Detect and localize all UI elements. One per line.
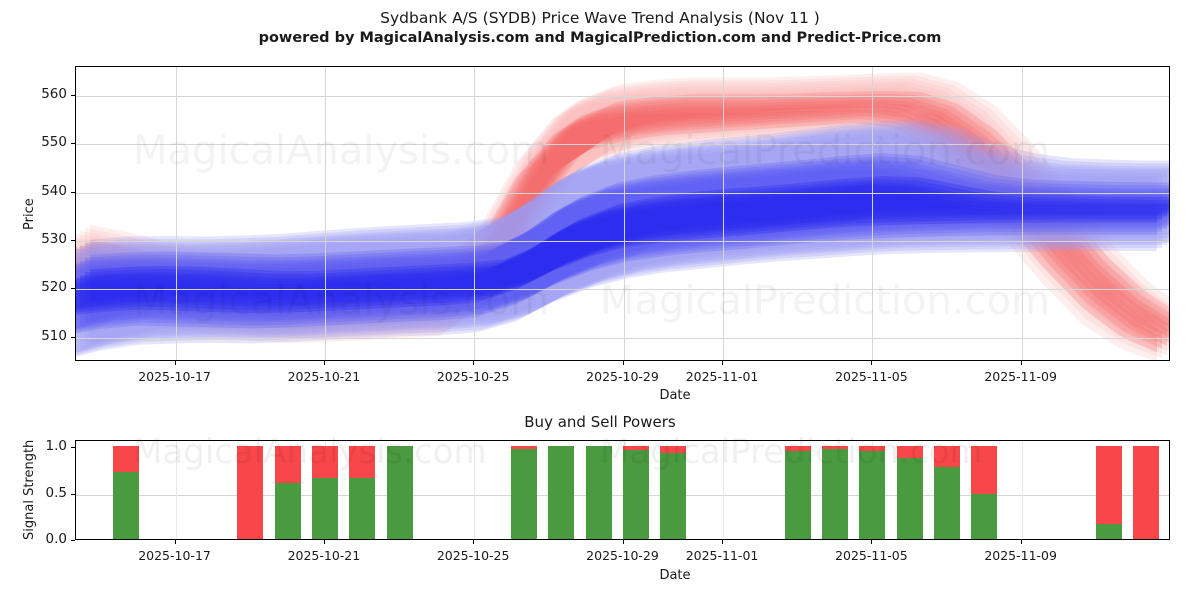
gridline-vertical: [723, 67, 724, 360]
signal-bar[interactable]: [623, 440, 649, 539]
bottom-ytick-label: 0.0: [5, 531, 67, 547]
sell-power-segment: [971, 446, 997, 493]
buy-power-segment: [971, 494, 997, 539]
bottom-ytick-mark: [71, 447, 75, 448]
sell-power-segment: [1133, 446, 1159, 539]
signal-bar[interactable]: [660, 440, 686, 539]
top-xtick-mark: [623, 361, 624, 365]
gridline-vertical: [1022, 441, 1023, 539]
gridline-vertical: [723, 441, 724, 539]
buy-sell-powers-plot: [75, 440, 1170, 540]
gridline-horizontal: [76, 144, 1169, 145]
gridline-horizontal: [76, 96, 1169, 97]
bottom-xtick-mark: [324, 540, 325, 544]
gridline-horizontal: [76, 193, 1169, 194]
title-block: Sydbank A/S (SYDB) Price Wave Trend Anal…: [0, 8, 1200, 48]
sell-power-segment: [113, 446, 139, 472]
signal-bar[interactable]: [586, 440, 612, 539]
top-xtick-mark: [175, 361, 176, 365]
buy-power-segment: [660, 453, 686, 539]
signal-bar[interactable]: [897, 440, 923, 539]
buy-power-segment: [859, 451, 885, 539]
buy-power-segment: [548, 446, 574, 539]
top-ytick-label: 530: [5, 231, 67, 247]
signal-bar[interactable]: [971, 440, 997, 539]
bottom-xtick-label: 2025-10-21: [269, 548, 379, 563]
bottom-ytick-label: 0.5: [5, 485, 67, 501]
bottom-xtick-label: 2025-11-01: [667, 548, 777, 563]
buy-power-segment: [511, 449, 537, 539]
top-ytick-label: 540: [5, 183, 67, 199]
gridline-vertical: [325, 67, 326, 360]
top-xtick-label: 2025-11-05: [816, 369, 926, 384]
top-xtick-label: 2025-10-29: [568, 369, 678, 384]
buy-power-segment: [113, 472, 139, 539]
chart-page: Sydbank A/S (SYDB) Price Wave Trend Anal…: [0, 0, 1200, 600]
buy-power-segment: [1096, 524, 1122, 539]
gridline-vertical: [1022, 67, 1023, 360]
signal-bar[interactable]: [237, 440, 263, 539]
gridline-vertical: [872, 67, 873, 360]
bottom-xtick-label: 2025-10-29: [568, 548, 678, 563]
top-xtick-label: 2025-10-17: [120, 369, 230, 384]
signal-bar[interactable]: [785, 440, 811, 539]
price-wave-plot: [75, 66, 1170, 361]
gridline-horizontal: [76, 241, 1169, 242]
bottom-xtick-mark: [1021, 540, 1022, 544]
signal-bar[interactable]: [822, 440, 848, 539]
page-subtitle: powered by MagicalAnalysis.com and Magic…: [0, 28, 1200, 48]
signal-bar[interactable]: [511, 440, 537, 539]
top-xtick-mark: [871, 361, 872, 365]
bottom-xtick-mark: [722, 540, 723, 544]
bottom-xtick-label: 2025-11-05: [816, 548, 926, 563]
gridline-vertical: [176, 441, 177, 539]
page-title: Sydbank A/S (SYDB) Price Wave Trend Anal…: [0, 8, 1200, 28]
top-ytick-label: 520: [5, 279, 67, 295]
gridline-vertical: [474, 67, 475, 360]
buy-power-segment: [349, 478, 375, 539]
bottom-ytick-label: 1.0: [5, 438, 67, 454]
signal-bar[interactable]: [275, 440, 301, 539]
bottom-xtick-mark: [473, 540, 474, 544]
bottom-xtick-label: 2025-10-17: [120, 548, 230, 563]
signal-bar[interactable]: [548, 440, 574, 539]
signal-bar[interactable]: [387, 440, 413, 539]
signal-bar[interactable]: [1096, 440, 1122, 539]
buy-power-segment: [897, 458, 923, 539]
bottom-xtick-label: 2025-10-25: [418, 548, 528, 563]
signal-bar[interactable]: [1133, 440, 1159, 539]
gridline-vertical: [624, 67, 625, 360]
top-ytick-label: 510: [5, 328, 67, 344]
sell-power-segment: [934, 446, 960, 466]
top-ytick-mark: [71, 192, 75, 193]
top-ytick-mark: [71, 288, 75, 289]
buy-power-segment: [785, 451, 811, 539]
signal-bar[interactable]: [349, 440, 375, 539]
gridline-vertical: [176, 67, 177, 360]
bottom-xtick-mark: [175, 540, 176, 544]
buy-power-segment: [586, 446, 612, 539]
top-ytick-mark: [71, 337, 75, 338]
sell-power-segment: [1096, 446, 1122, 524]
top-xtick-mark: [722, 361, 723, 365]
sell-power-segment: [349, 446, 375, 477]
top-xtick-mark: [324, 361, 325, 365]
gridline-horizontal: [76, 289, 1169, 290]
sell-power-segment: [275, 446, 301, 482]
top-xaxis-title: Date: [575, 388, 775, 403]
buy-power-segment: [312, 478, 338, 539]
gridline-horizontal: [76, 338, 1169, 339]
top-ytick-label: 560: [5, 86, 67, 102]
top-xtick-label: 2025-10-25: [418, 369, 528, 384]
top-xtick-label: 2025-11-01: [667, 369, 777, 384]
top-xtick-mark: [1021, 361, 1022, 365]
signal-bar[interactable]: [859, 440, 885, 539]
top-ytick-label: 550: [5, 134, 67, 150]
top-xtick-label: 2025-10-21: [269, 369, 379, 384]
sell-power-segment: [897, 446, 923, 457]
buy-power-segment: [387, 446, 413, 539]
buy-power-segment: [822, 449, 848, 539]
top-xtick-mark: [473, 361, 474, 365]
bottom-ytick-mark: [71, 494, 75, 495]
buy-sell-powers-title: Buy and Sell Powers: [0, 413, 1200, 431]
top-ytick-mark: [71, 240, 75, 241]
signal-bar[interactable]: [113, 440, 139, 539]
sell-power-segment: [237, 446, 263, 539]
sell-power-segment: [312, 446, 338, 477]
buy-power-segment: [623, 450, 649, 539]
signal-bar[interactable]: [934, 440, 960, 539]
top-yaxis-title: Price: [22, 198, 37, 230]
top-ytick-mark: [71, 95, 75, 96]
buy-power-segment: [934, 467, 960, 539]
bottom-xtick-label: 2025-11-09: [966, 548, 1076, 563]
signal-bar[interactable]: [312, 440, 338, 539]
top-xtick-label: 2025-11-09: [966, 369, 1076, 384]
bottom-xtick-mark: [871, 540, 872, 544]
bottom-xtick-mark: [623, 540, 624, 544]
bottom-ytick-mark: [71, 540, 75, 541]
top-ytick-mark: [71, 143, 75, 144]
buy-power-segment: [275, 483, 301, 539]
bottom-xaxis-title: Date: [575, 568, 775, 583]
gridline-vertical: [474, 441, 475, 539]
